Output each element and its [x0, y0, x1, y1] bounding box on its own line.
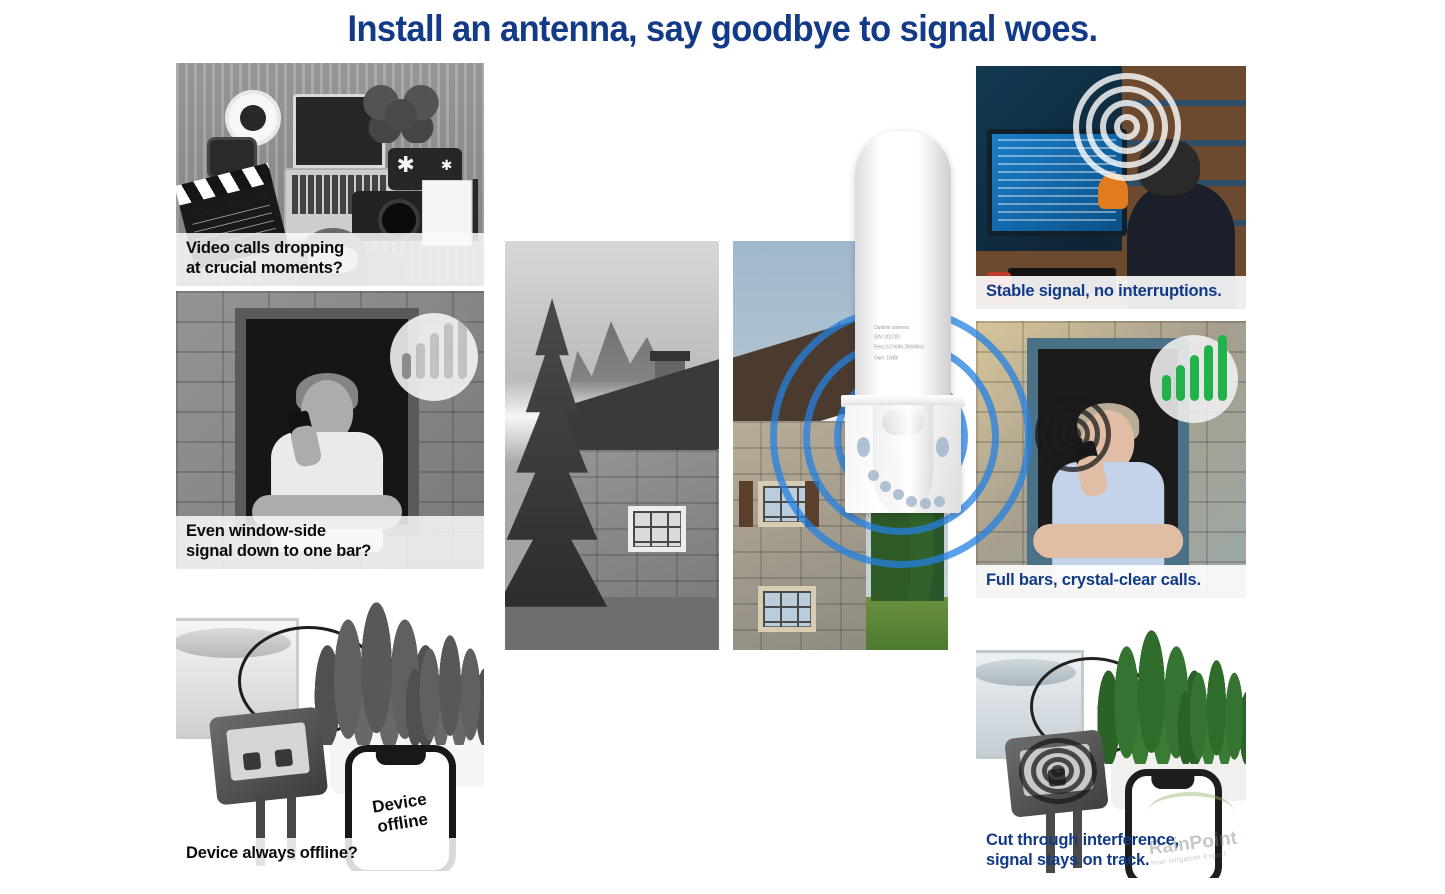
problem-caption-window-signal: Even window-side signal down to one bar?	[176, 516, 484, 569]
solution-panel-cut-interference: RainPoint Your Irrigation Expert Cut thr…	[976, 630, 1246, 878]
problem-caption-device-offline: Device always offline?	[176, 838, 484, 871]
antenna-bracket	[845, 405, 960, 513]
center-house-before	[505, 241, 719, 650]
controller-offline-image: Deviceoffline	[176, 596, 484, 871]
signal-bars-icon-full	[1150, 335, 1238, 423]
outdoor-antenna-product: Outdoor antenna S/N: 001283 Freq: 617/69…	[855, 131, 951, 521]
phone-offline-text: Deviceoffline	[371, 789, 431, 836]
signal-bars-icon-weak	[390, 313, 478, 401]
signal-rings-white	[1072, 72, 1182, 182]
solution-caption-stable-signal: Stable signal, no interruptions.	[976, 276, 1246, 309]
house-before-image	[505, 241, 719, 650]
signal-rings-controller	[1011, 732, 1105, 810]
solution-panel-stable-signal: Stable signal, no interruptions.	[976, 66, 1246, 309]
solution-caption-cut-interference: Cut through interference, signal stays o…	[976, 825, 1246, 878]
problem-caption-video-calls: Video calls dropping at crucial moments?	[176, 233, 484, 286]
solution-caption-full-bars: Full bars, crystal-clear calls.	[976, 565, 1246, 598]
problem-panel-device-offline: Deviceoffline Device always offline?	[176, 596, 484, 871]
page-title: Install an antenna, say goodbye to signa…	[51, 8, 1395, 50]
antenna-spec-label: Outdoor antenna S/N: 001283 Freq: 617/69…	[874, 322, 941, 362]
problem-panel-window-signal: Even window-side signal down to one bar?	[176, 291, 484, 569]
problem-panel-video-calls: Video calls dropping at crucial moments?	[176, 63, 484, 286]
antenna-body: Outdoor antenna S/N: 001283 Freq: 617/69…	[855, 131, 951, 399]
